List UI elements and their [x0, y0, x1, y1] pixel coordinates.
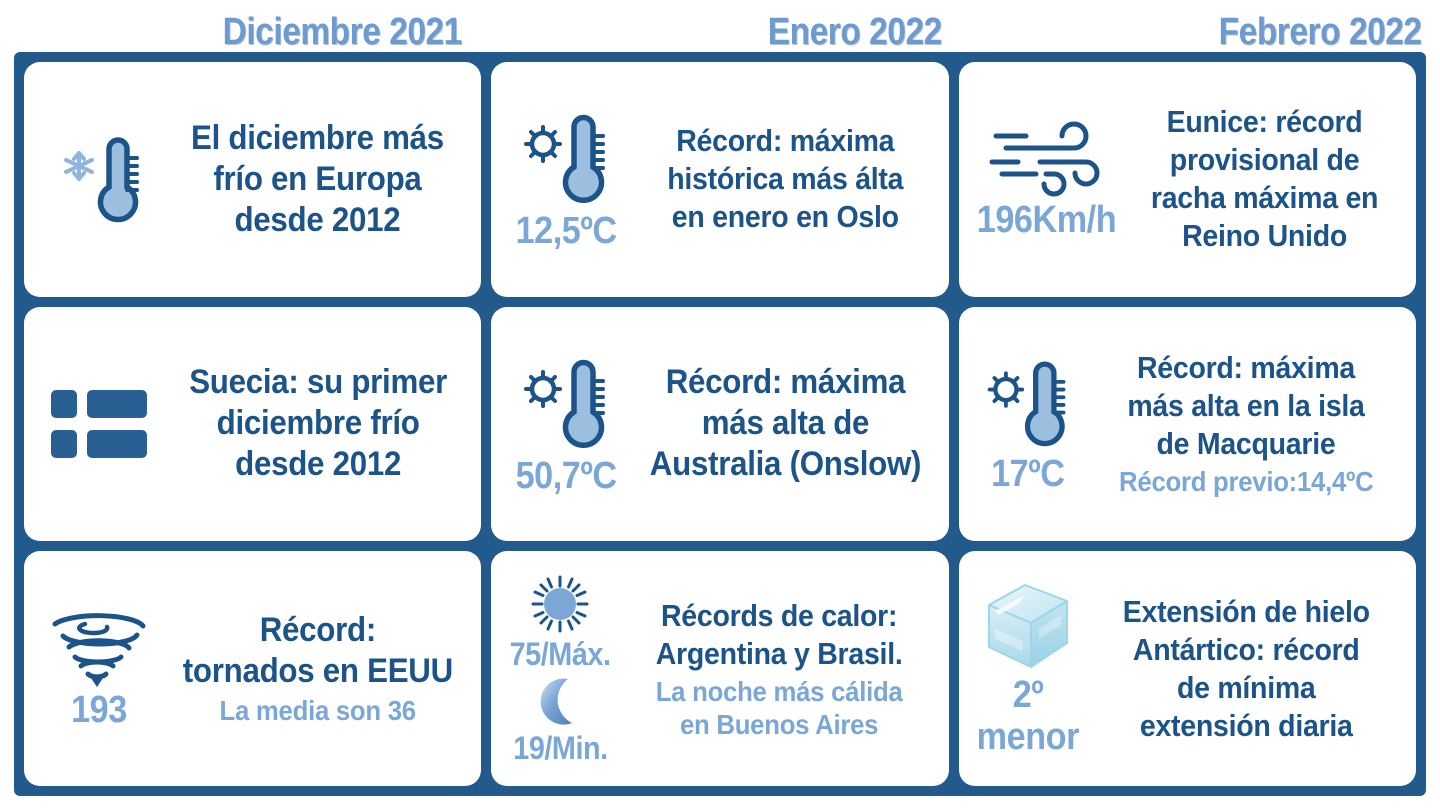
- card-text-area: Eunice: récord provisional de racha máxi…: [1124, 103, 1406, 255]
- month-header-label: Enero 2022: [768, 12, 942, 52]
- card-title: Récords de calor: Argentina y Brasil.: [656, 597, 903, 673]
- card-title: El diciembre más frío en Europa desde 20…: [191, 118, 444, 241]
- month-header-row: Diciembre 2021 Enero 2022 Febrero 2022: [0, 0, 1440, 52]
- card-grid: El diciembre más frío en Europa desde 20…: [14, 52, 1426, 796]
- month-header-diciembre: Diciembre 2021: [0, 0, 480, 52]
- month-header-label: Febrero 2022: [1219, 12, 1422, 52]
- card-metric-min: 19/Min.: [513, 731, 607, 765]
- month-header-enero: Enero 2022: [480, 0, 960, 52]
- thermometer-sun-icon: [516, 107, 616, 209]
- card-metric-value: 2º: [1012, 675, 1043, 715]
- card-icon-area: 50,7ºC: [501, 352, 631, 496]
- card-text-area: Récord: máxima histórica más álta en ene…: [631, 122, 938, 236]
- card-diciembre-frio-europa: El diciembre más frío en Europa desde 20…: [24, 62, 481, 297]
- card-text-area: Récords de calor: Argentina y Brasil. La…: [619, 597, 938, 741]
- month-header-febrero: Febrero 2022: [960, 0, 1440, 52]
- card-suecia-diciembre-frio: Suecia: su primer diciembre frío desde 2…: [24, 307, 481, 542]
- card-metric: 196Km/h: [976, 200, 1115, 240]
- card-title: Suecia: su primer diciembre frío desde 2…: [189, 362, 447, 485]
- card-record-maxima-oslo: 12,5ºC Récord: máxima histórica más álta…: [491, 62, 948, 297]
- card-metric: 50,7ºC: [516, 456, 617, 496]
- card-icon-area: 12,5ºC: [501, 107, 631, 251]
- card-eunice-racha-maxima: 196Km/h Eunice: récord provisional de ra…: [959, 62, 1416, 297]
- infographic-page: Diciembre 2021 Enero 2022 Febrero 2022: [0, 0, 1440, 810]
- card-subtitle: La media son 36: [220, 694, 416, 727]
- card-extension-hielo-antartico: 2º menor Extensión de hielo Antártico: r…: [959, 551, 1416, 786]
- card-icon-area: 75/Máx. 19/Min.: [501, 573, 619, 765]
- ice-cube-icon: [979, 581, 1077, 673]
- thermometer-sun-icon: [516, 352, 616, 454]
- card-title: Récord: máxima más alta en la isla de Ma…: [1128, 349, 1365, 463]
- card-title: Eunice: récord provisional de racha máxi…: [1151, 103, 1378, 255]
- card-text-area: El diciembre más frío en Europa desde 20…: [164, 118, 471, 241]
- thermometer-sun-icon: [980, 354, 1076, 452]
- card-text-area: Suecia: su primer diciembre frío desde 2…: [164, 362, 471, 485]
- card-metric-max: 75/Máx.: [510, 637, 611, 671]
- tornado-icon: [47, 608, 151, 688]
- card-icon-area: [34, 127, 164, 231]
- card-icon-area: 2º menor: [969, 581, 1087, 757]
- card-metric: 12,5ºC: [516, 211, 617, 251]
- card-title: Récord: máxima histórica más álta en ene…: [667, 122, 903, 236]
- card-icon-area: 193: [34, 608, 164, 730]
- card-subtitle: La noche más cálida en Buenos Aires: [656, 675, 903, 741]
- card-record-maxima-australia: 50,7ºC Récord: máxima más alta de Austra…: [491, 307, 948, 542]
- card-title: Extensión de hielo Antártico: récord de …: [1123, 593, 1370, 745]
- card-metric: 17ºC: [991, 454, 1064, 494]
- card-text-area: Récord: máxima más alta en la isla de Ma…: [1087, 349, 1406, 498]
- card-icon-area: 196Km/h: [969, 118, 1124, 240]
- thermometer-snowflake-icon: [51, 127, 147, 231]
- month-header-label: Diciembre 2021: [223, 12, 462, 52]
- wind-icon: [984, 118, 1108, 198]
- card-icon-area: [34, 388, 164, 460]
- card-text-area: Récord: tornados en EEUU La media son 36: [164, 610, 471, 727]
- card-text-area: Extensión de hielo Antártico: récord de …: [1087, 593, 1406, 745]
- moon-icon: [532, 673, 588, 729]
- card-record-maxima-macquarie: 17ºC Récord: máxima más alta en la isla …: [959, 307, 1416, 542]
- sun-icon: [517, 573, 603, 635]
- card-records-calor-argentina-brasil: 75/Máx. 19/Min.: [491, 551, 948, 786]
- card-title: Récord: tornados en EEUU: [183, 610, 453, 692]
- card-text-area: Récord: máxima más alta de Australia (On…: [631, 362, 938, 485]
- card-record-tornados-eeuu: 193 Récord: tornados en EEUU La media so…: [24, 551, 481, 786]
- card-metric: 193: [71, 690, 127, 730]
- card-subtitle: Récord previo:14,4ºC: [1119, 465, 1373, 498]
- nordic-flag-icon: [49, 388, 149, 460]
- card-metric-label: menor: [977, 717, 1079, 757]
- card-title: Récord: máxima más alta de Australia (On…: [649, 362, 920, 485]
- card-icon-area: 17ºC: [969, 354, 1087, 494]
